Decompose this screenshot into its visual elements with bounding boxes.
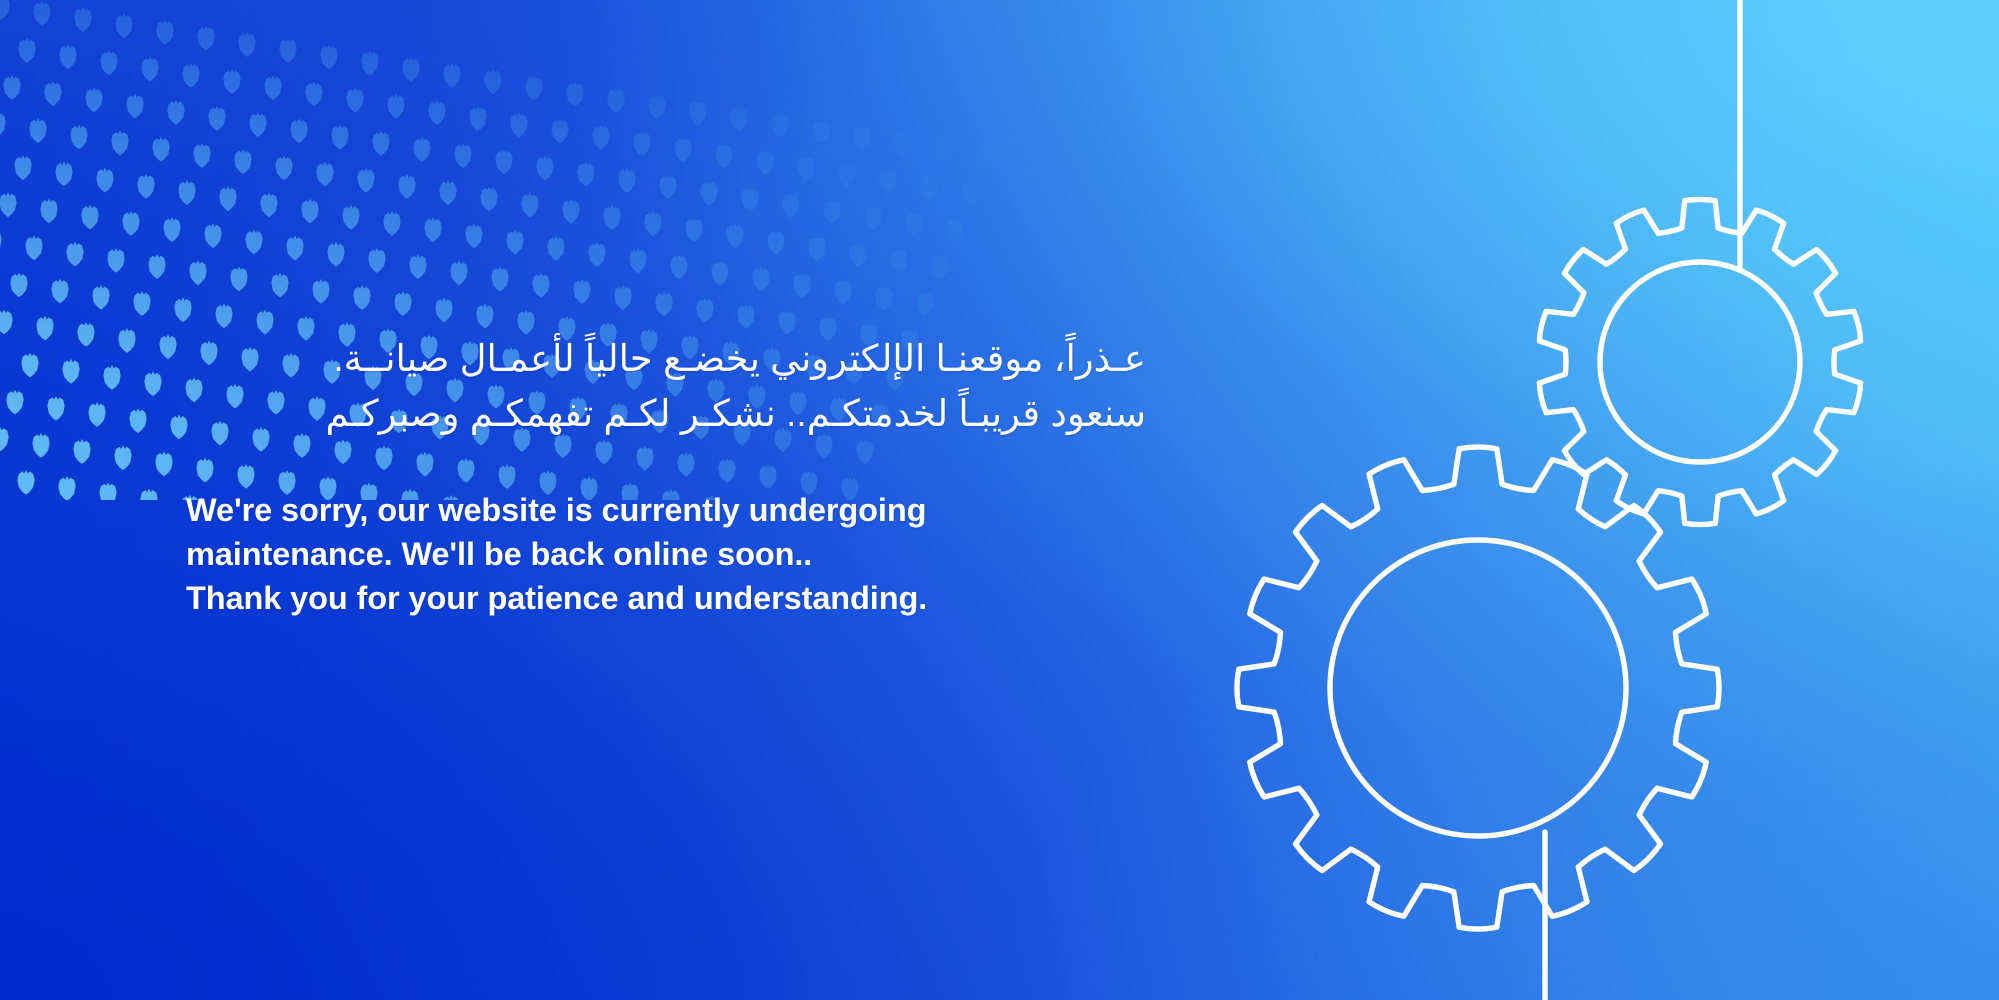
message-block: عـذراً، موقعنـا الإلكتروني يخضـع حالياً … — [186, 332, 1146, 620]
english-line-1: We're sorry, our website is currently un… — [186, 488, 1146, 532]
arabic-message: عـذراً، موقعنـا الإلكتروني يخضـع حالياً … — [186, 332, 1146, 442]
arabic-line-2: سنعود قريبـاً لخدمتكـم.. نشكـر لكـم تفهم… — [186, 387, 1146, 442]
english-line-2: maintenance. We'll be back online soon.. — [186, 532, 1146, 576]
english-line-3: Thank you for your patience and understa… — [186, 576, 1146, 620]
arabic-line-1: عـذراً، موقعنـا الإلكتروني يخضـع حالياً … — [186, 332, 1146, 387]
english-message: We're sorry, our website is currently un… — [186, 488, 1146, 621]
maintenance-page: {"cols":26,"rows":17,"dx":41,"dy":37,"sk… — [0, 0, 1999, 1000]
